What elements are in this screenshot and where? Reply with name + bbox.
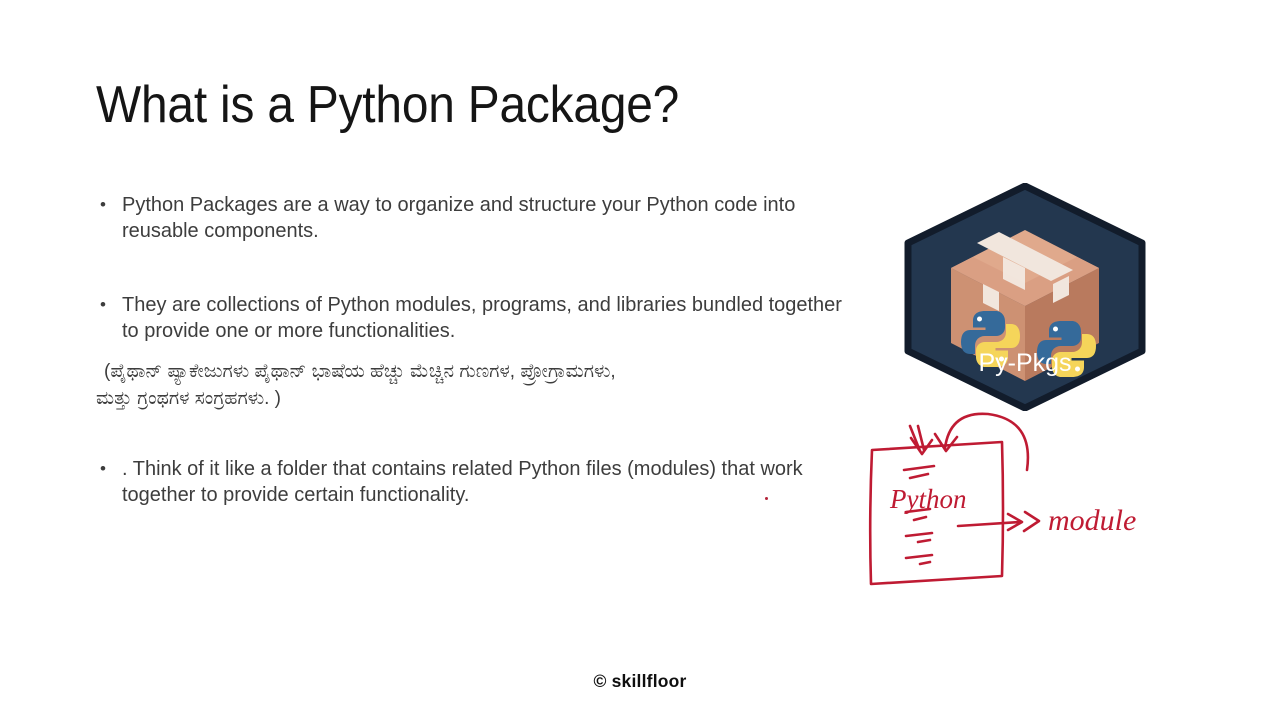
sketch-page-label: Python [889,484,966,514]
page-title: What is a Python Package? [96,74,679,136]
bullet-marker-icon: • [96,192,122,218]
list-item: • Python Packages are a way to organize … [96,192,866,244]
module-arrow-shaft [958,522,1020,526]
stray-red-dot-mark [765,497,768,500]
bullet-text: Python Packages are a way to organize an… [122,192,847,244]
footer-brand: © skillfloor [0,671,1280,692]
code-line [914,517,926,520]
code-line [906,555,932,558]
module-arrow-head-2 [1024,512,1039,531]
bullet-text: They are collections of Python modules, … [122,292,847,344]
bullet-list: • Python Packages are a way to organize … [96,192,866,508]
translation-line-1: (ಪೈಥಾನ್ ಪ್ಯಾಕೇಜುಗಳು ಪೈಥಾನ್ ಭಾಷೆಯ ಹೆಚ್ಚು … [96,358,871,385]
list-item: • . Think of it like a folder that conta… [96,456,866,508]
sketch-arrow-label: module [1048,504,1136,537]
py-pkgs-logo: Py-Pkgs [903,183,1147,411]
translation-line-2: ಮತ್ತು ಗ್ರಂಥಗಳ ಸಂಗ್ರಹಗಳು. ) [96,385,871,412]
spacer [96,412,866,456]
code-line [910,474,928,478]
code-line [906,533,932,536]
handdrawn-annotation: Python module [862,408,1162,600]
translation-block: (ಪೈಥಾನ್ ಪ್ಯಾಕೇಜುಗಳು ಪೈಥಾನ್ ಭಾಷೆಯ ಹೆಚ್ಚು … [96,358,871,412]
bullet-marker-icon: • [96,292,122,318]
code-line [918,540,930,542]
logo-label: Py-Pkgs [978,349,1071,377]
list-item: • They are collections of Python modules… [96,292,866,344]
code-line [920,562,930,564]
slide-canvas: What is a Python Package? • Python Packa… [0,0,1280,720]
bullet-marker-icon: • [96,456,122,482]
spacer [96,244,866,292]
bullet-text: . Think of it like a folder that contain… [122,456,847,508]
code-line [904,466,934,470]
